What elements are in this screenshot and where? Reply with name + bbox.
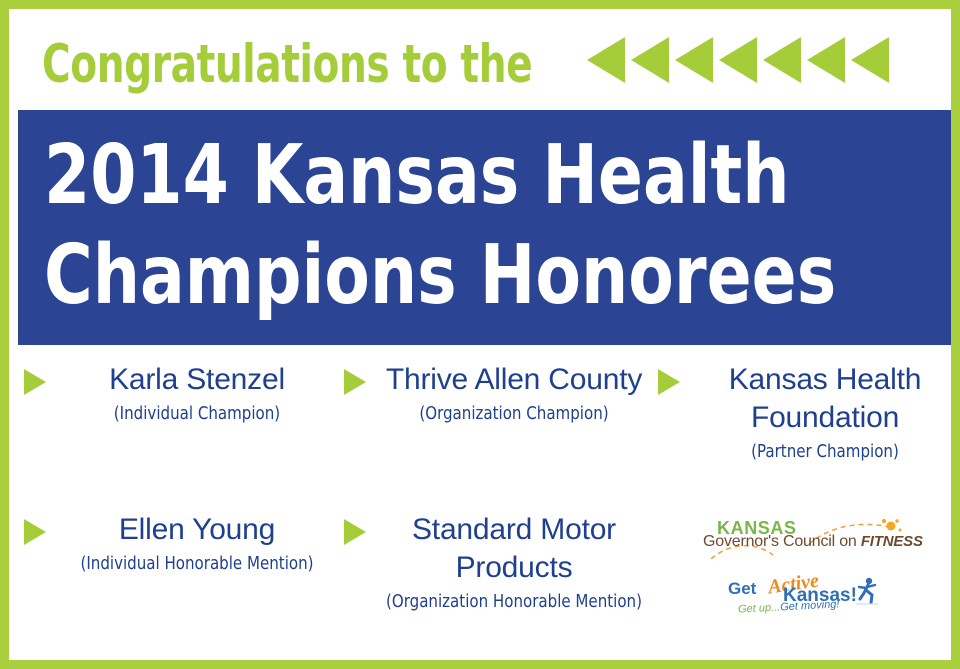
triangle-left-icon (675, 37, 713, 83)
honoree-row-2: Ellen Young (Individual Honorable Mentio… (18, 499, 960, 664)
honoree-category: (Individual Honorable Mention) (66, 551, 328, 576)
logo-tagline: Get up...Get moving! (738, 598, 840, 615)
triangle-left-icon (763, 37, 801, 83)
header-arrow-group (587, 37, 889, 83)
honoree-name: Kansas Health Foundation (690, 361, 960, 437)
honoree-category: (Organization Honorable Mention) (386, 589, 643, 614)
triangle-right-icon (24, 369, 46, 395)
triangle-right-icon (344, 519, 366, 545)
honoree-cell: Kansas Health Foundation (Partner Champi… (652, 349, 960, 499)
honoree-row-1: Karla Stenzel (Individual Champion) Thri… (18, 349, 960, 499)
honoree-category: (Partner Champion) (699, 439, 950, 464)
honoree-poster: Congratulations to the 2014 Kansas Healt… (0, 0, 960, 669)
triangle-left-icon (587, 37, 625, 83)
honoree-category: (Individual Champion) (66, 401, 328, 426)
banner-line-1: 2014 Kansas Health (44, 126, 868, 226)
honoree-category: (Organization Champion) (386, 401, 643, 426)
triangle-right-icon (344, 369, 366, 395)
banner-line-2: Champions Honorees (44, 226, 868, 326)
honoree-cell: Standard Motor Products (Organization Ho… (338, 499, 652, 664)
logo-cell: KANSAS Governor's Council on FITNESS Get… (652, 499, 960, 664)
honoree-cell: Karla Stenzel (Individual Champion) (18, 349, 338, 499)
triangle-left-icon (851, 37, 889, 83)
header-title: Congratulations to the (42, 38, 532, 91)
honoree-name: Ellen Young (56, 511, 338, 549)
get-active-kansas-logo: Get Active Kansas! Get up...Get moving! (726, 573, 886, 613)
runner-icon (854, 577, 880, 607)
logo-get-word: Get (728, 579, 756, 599)
triangle-right-icon (24, 519, 46, 545)
triangle-left-icon (719, 37, 757, 83)
triangle-left-icon (807, 37, 845, 83)
triangle-right-icon (658, 369, 680, 395)
honoree-grid: Karla Stenzel (Individual Champion) Thri… (18, 349, 960, 669)
kansas-governors-council-on-fitness-logo: KANSAS Governor's Council on FITNESS (703, 517, 909, 559)
triangle-left-icon (631, 37, 669, 83)
logo-council-line: Governor's Council on FITNESS (703, 533, 923, 551)
honoree-name: Thrive Allen County (376, 361, 652, 399)
honoree-cell: Ellen Young (Individual Honorable Mentio… (18, 499, 338, 664)
title-banner: 2014 Kansas Health Champions Honorees (18, 110, 960, 345)
honoree-name: Karla Stenzel (56, 361, 338, 399)
honoree-cell: Thrive Allen County (Organization Champi… (338, 349, 652, 499)
honoree-name: Standard Motor Products (376, 511, 652, 587)
